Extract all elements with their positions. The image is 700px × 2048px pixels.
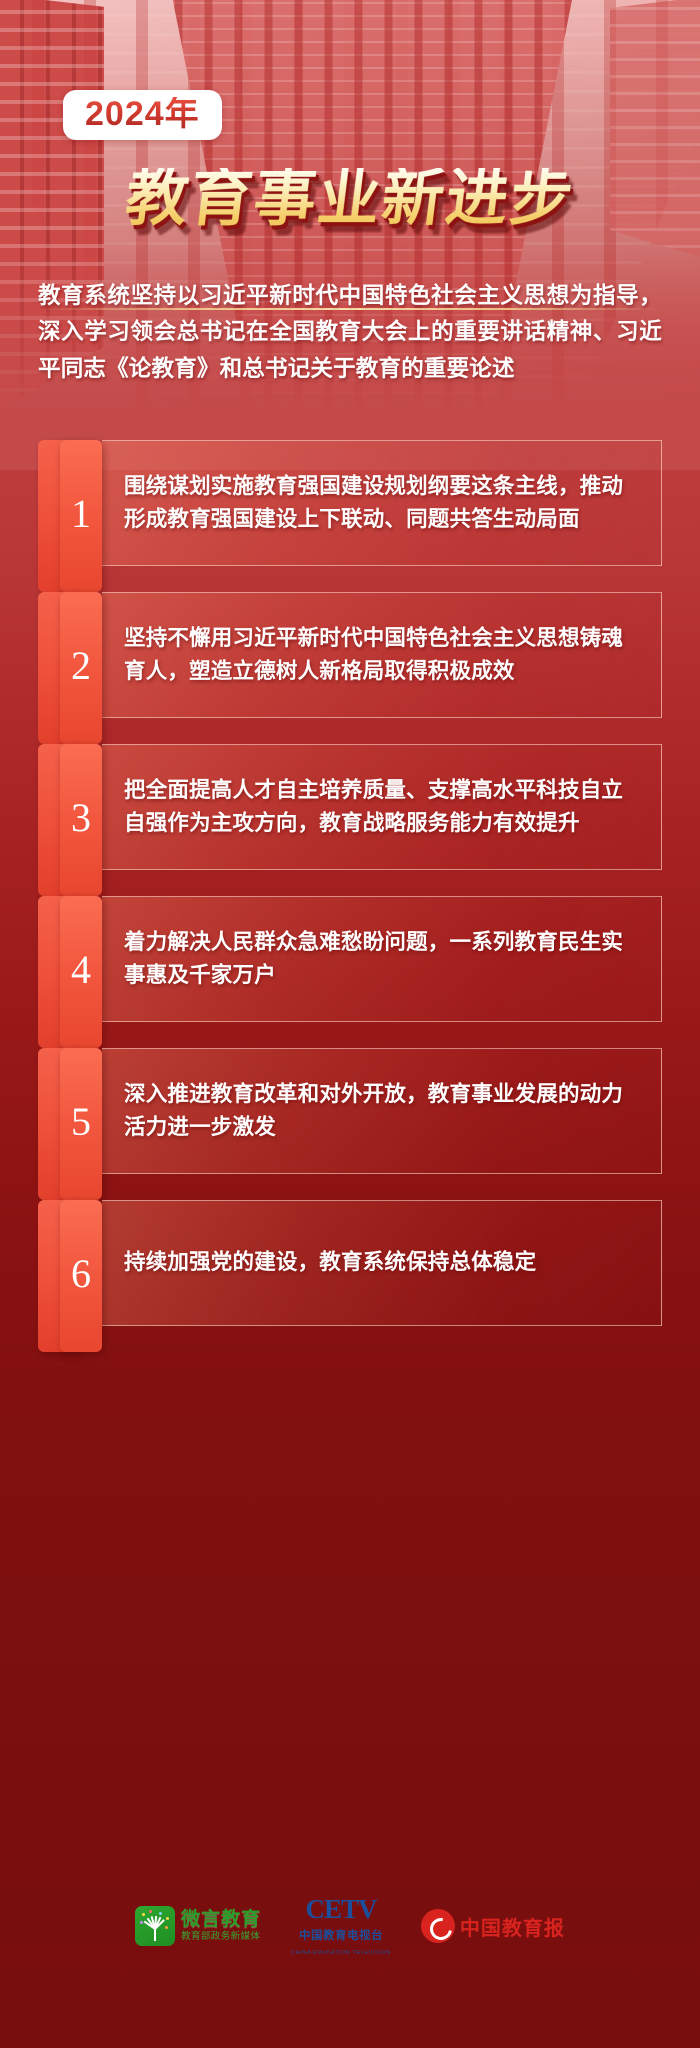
- year-badge: 2024年: [63, 90, 222, 140]
- logo-cetv-name-cn: 中国教育电视台: [299, 1931, 383, 1943]
- item-number: 4: [60, 950, 102, 990]
- intro-paragraph: 教育系统坚持以习近平新时代中国特色社会主义思想为指导，深入学习领会总书记在全国教…: [38, 278, 662, 387]
- list-item: 3 把全面提高人才自主培养质量、支撑高水平科技自立自强作为主攻方向，教育战略服务…: [38, 744, 662, 870]
- number-tab: 1: [60, 440, 102, 592]
- item-card: 围绕谋划实施教育强国建设规划纲要这条主线，推动形成教育强国建设上下联动、同题共答…: [102, 440, 662, 566]
- hero-backdrop: [0, 0, 700, 470]
- item-card: 着力解决人民群众急难愁盼问题，一系列教育民生实事惠及千家万户: [102, 896, 662, 1022]
- logo-weiyan-jiaoyu: 微言教育 教育部政务新媒体: [135, 1906, 261, 1946]
- logo-zhongguo-jiaoyu-bao: 中国教育报: [421, 1909, 565, 1943]
- item-number: 1: [60, 494, 102, 534]
- list-item: 5 深入推进教育改革和对外开放，教育事业发展的动力活力进一步激发: [38, 1048, 662, 1174]
- item-number: 5: [60, 1102, 102, 1142]
- item-text: 着力解决人民群众急难愁盼问题，一系列教育民生实事惠及千家万户: [124, 926, 641, 993]
- item-number: 3: [60, 798, 102, 838]
- item-number: 2: [60, 646, 102, 686]
- item-card: 把全面提高人才自主培养质量、支撑高水平科技自立自强作为主攻方向，教育战略服务能力…: [102, 744, 662, 870]
- logo-cetv-wordmark: CETV: [305, 1896, 376, 1923]
- item-number: 6: [60, 1254, 102, 1294]
- swoosh-icon: [421, 1909, 455, 1943]
- item-list: 1 围绕谋划实施教育强国建设规划纲要这条主线，推动形成教育强国建设上下联动、同题…: [0, 440, 700, 1352]
- poster-root: 2024年 教育事业新进步 教育系统坚持以习近平新时代中国特色社会主义思想为指导…: [0, 0, 700, 2048]
- number-tab: 4: [60, 896, 102, 1048]
- item-card: 坚持不懈用习近平新时代中国特色社会主义思想铸魂育人，塑造立德树人新格局取得积极成…: [102, 592, 662, 718]
- logo-cetv-name-en: CHINA EDUCATION TELEVISION: [291, 1951, 391, 1957]
- item-text: 持续加强党的建设，教育系统保持总体稳定: [124, 1246, 536, 1279]
- year-badge-label: 2024年: [85, 97, 200, 131]
- footer-logos: 微言教育 教育部政务新媒体 CETV 中国教育电视台 CHINA EDUCATI…: [0, 1896, 700, 1956]
- item-card: 持续加强党的建设，教育系统保持总体稳定: [102, 1200, 662, 1326]
- number-tab: 2: [60, 592, 102, 744]
- logo-zgjyb-name: 中国教育报: [460, 1912, 565, 1941]
- list-item: 6 持续加强党的建设，教育系统保持总体稳定: [38, 1200, 662, 1326]
- item-card: 深入推进教育改革和对外开放，教育事业发展的动力活力进一步激发: [102, 1048, 662, 1174]
- item-text: 深入推进教育改革和对外开放，教育事业发展的动力活力进一步激发: [124, 1078, 641, 1145]
- page-title: 教育事业新进步: [122, 168, 578, 230]
- dandelion-icon: [135, 1906, 175, 1946]
- number-tab: 5: [60, 1048, 102, 1200]
- number-tab: 6: [60, 1200, 102, 1352]
- logo-weiyan-text: 微言教育 教育部政务新媒体: [181, 1910, 261, 1942]
- number-tab: 3: [60, 744, 102, 896]
- item-text: 坚持不懈用习近平新时代中国特色社会主义思想铸魂育人，塑造立德树人新格局取得积极成…: [124, 622, 641, 689]
- logo-weiyan-subtitle: 教育部政务新媒体: [181, 1932, 261, 1942]
- list-item: 1 围绕谋划实施教育强国建设规划纲要这条主线，推动形成教育强国建设上下联动、同题…: [38, 440, 662, 566]
- logo-weiyan-name: 微言教育: [181, 1910, 261, 1929]
- list-item: 2 坚持不懈用习近平新时代中国特色社会主义思想铸魂育人，塑造立德树人新格局取得积…: [38, 592, 662, 718]
- list-item: 4 着力解决人民群众急难愁盼问题，一系列教育民生实事惠及千家万户: [38, 896, 662, 1022]
- item-text: 围绕谋划实施教育强国建设规划纲要这条主线，推动形成教育强国建设上下联动、同题共答…: [124, 470, 641, 537]
- logo-cetv: CETV 中国教育电视台 CHINA EDUCATION TELEVISION: [291, 1896, 391, 1956]
- item-text: 把全面提高人才自主培养质量、支撑高水平科技自立自强作为主攻方向，教育战略服务能力…: [124, 774, 641, 841]
